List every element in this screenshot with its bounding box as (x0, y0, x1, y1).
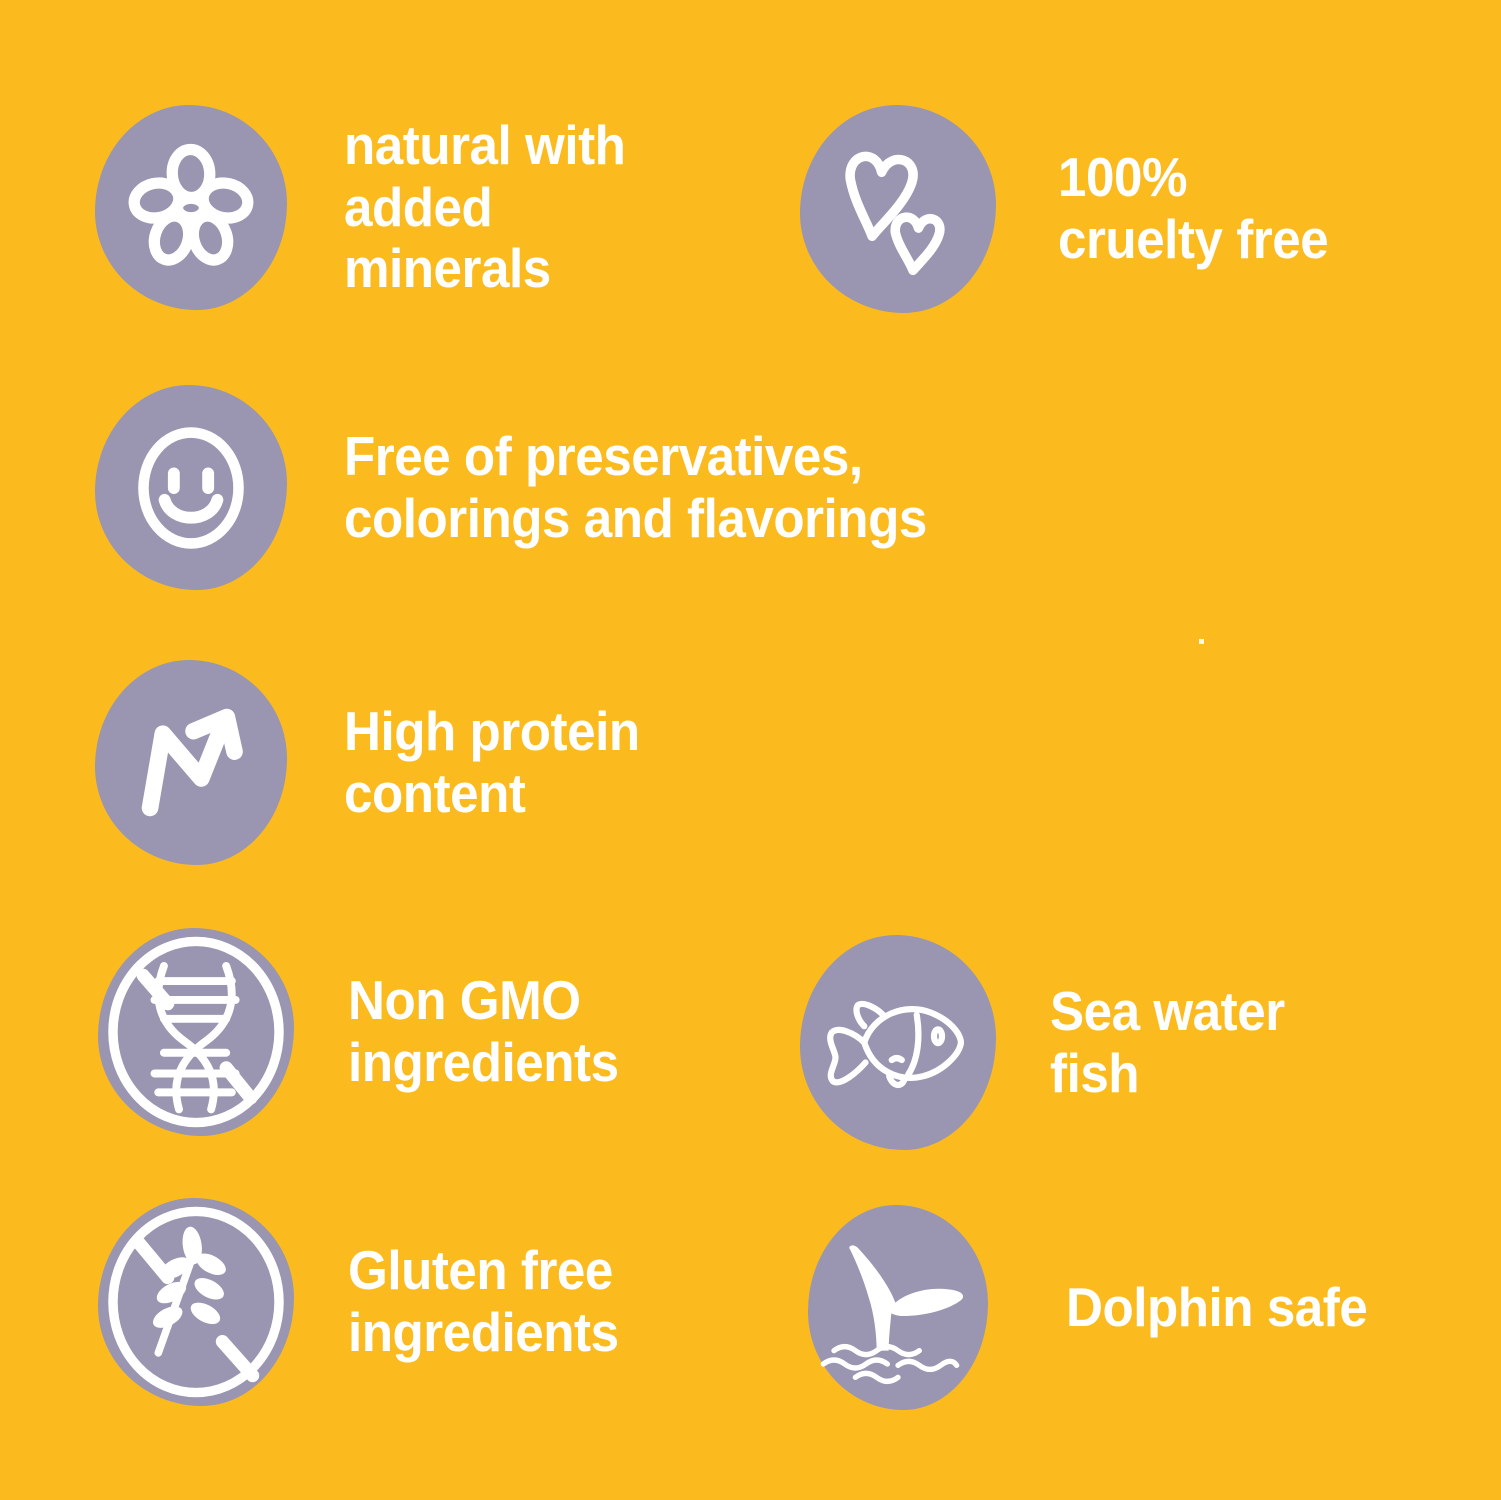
feature-label: natural with added minerals (344, 115, 625, 300)
whale-tail-icon (818, 1233, 978, 1383)
feature-cruelty-free: 100% cruelty free (800, 105, 1349, 313)
fish-icon (823, 985, 973, 1100)
badge-circle (95, 105, 287, 310)
badge-circle (95, 385, 287, 590)
badge-circle (800, 935, 996, 1150)
feature-label: Sea water fish (1050, 981, 1285, 1104)
feature-label: Non GMO ingredients (348, 970, 619, 1093)
decorative-speck (1199, 639, 1204, 644)
features-board: natural with added minerals 100% cruelty… (0, 0, 1501, 1500)
feature-free-of-preservatives: Free of preservatives, colorings and fla… (95, 385, 971, 590)
feature-label: Gluten free ingredients (348, 1240, 619, 1363)
feature-non-gmo: Non GMO ingredients (98, 928, 639, 1136)
feature-label: 100% cruelty free (1058, 147, 1328, 270)
badge-circle (95, 660, 287, 865)
feature-sea-water-fish: Sea water fish (800, 935, 1302, 1150)
growth-arrow-icon (127, 695, 255, 830)
two-hearts-icon (828, 134, 968, 284)
feature-dolphin-safe: Dolphin safe (808, 1205, 1390, 1410)
badge-circle (98, 928, 294, 1136)
feature-gluten-free: Gluten free ingredients (98, 1198, 639, 1406)
feature-label: Dolphin safe (1066, 1277, 1367, 1339)
smiley-face-icon (125, 418, 257, 558)
feature-high-protein: High protein content (95, 660, 662, 865)
no-dna-icon (101, 932, 291, 1132)
flower-icon (116, 133, 266, 283)
badge-circle (808, 1205, 988, 1410)
feature-label: High protein content (344, 701, 640, 824)
badge-circle (98, 1198, 294, 1406)
feature-natural-minerals: natural with added minerals (95, 105, 647, 310)
badge-circle (800, 105, 996, 313)
no-wheat-icon (101, 1202, 291, 1402)
feature-label: Free of preservatives, colorings and fla… (344, 426, 927, 549)
